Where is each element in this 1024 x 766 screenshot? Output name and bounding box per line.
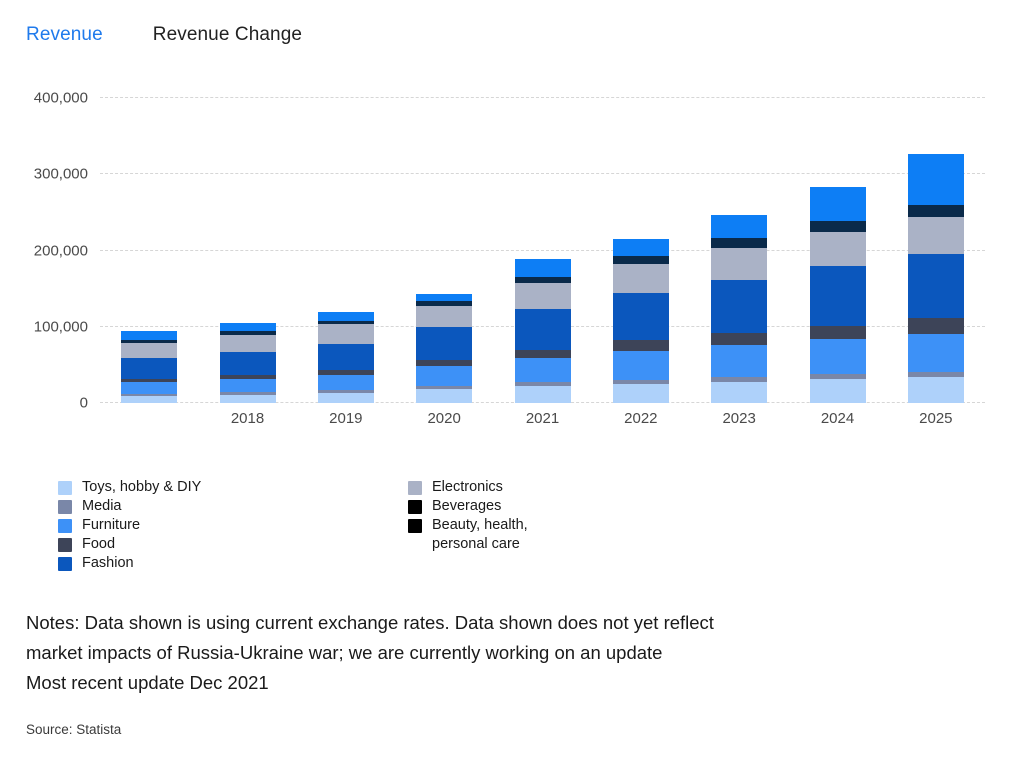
bar-segment[interactable] [220, 395, 276, 403]
tab-revenue-change[interactable]: Revenue Change [153, 24, 302, 46]
bar-2022[interactable] [613, 239, 669, 403]
bar-segment[interactable] [711, 215, 767, 239]
legend-swatch-icon [58, 519, 72, 533]
bar-segment[interactable] [416, 366, 472, 386]
bar-segment[interactable] [908, 217, 964, 254]
legend-item[interactable]: Food [58, 535, 408, 554]
y-axis-labels: 0100,000200,000300,000400,000 [0, 98, 88, 403]
legend-label: Fashion [82, 554, 134, 573]
bar-segment[interactable] [220, 335, 276, 352]
bar-2019[interactable] [318, 312, 374, 403]
y-axis-tick: 300,000 [34, 166, 88, 183]
bar-segment[interactable] [416, 389, 472, 403]
bar-segment[interactable] [121, 358, 177, 379]
y-axis-tick: 100,000 [34, 318, 88, 335]
bar-segment[interactable] [515, 259, 571, 277]
note-line-2: market impacts of Russia-Ukraine war; we… [26, 638, 906, 668]
plot-area [100, 98, 985, 403]
bar-segment[interactable] [908, 254, 964, 319]
y-axis-tick: 0 [80, 395, 88, 412]
bar-segment[interactable] [810, 379, 866, 403]
gridline [100, 97, 985, 98]
legend-column-1: Toys, hobby & DIYMediaFurnitureFoodFashi… [58, 478, 408, 573]
legend-item[interactable]: Beverages [408, 497, 758, 516]
legend-label: Electronics [432, 478, 503, 497]
bar-segment[interactable] [908, 377, 964, 403]
bar-segment[interactable] [908, 205, 964, 217]
x-axis-tick-2021: 2021 [498, 410, 588, 427]
bar-segment[interactable] [318, 324, 374, 343]
legend-item[interactable]: Media [58, 497, 408, 516]
y-axis-tick: 200,000 [34, 242, 88, 259]
legend-swatch-icon [408, 519, 422, 533]
bar-2024[interactable] [810, 187, 866, 403]
bar-segment[interactable] [613, 239, 669, 257]
bar-segment[interactable] [121, 343, 177, 358]
bar-segment[interactable] [810, 221, 866, 232]
x-axis-labels: 20182019202020212022202320242025 [100, 410, 985, 436]
legend-swatch-icon [408, 500, 422, 514]
legend-swatch-icon [58, 481, 72, 495]
legend-item[interactable]: Beauty, health, personal care [408, 516, 758, 554]
bar-2023[interactable] [711, 215, 767, 403]
bar-segment[interactable] [318, 375, 374, 390]
x-axis-tick-2020: 2020 [399, 410, 489, 427]
note-line-3: Most recent update Dec 2021 [26, 668, 906, 698]
bar-segment[interactable] [613, 264, 669, 293]
bar-segment[interactable] [318, 312, 374, 321]
legend-swatch-icon [58, 538, 72, 552]
bar-segment[interactable] [515, 386, 571, 403]
legend-column-2: ElectronicsBeveragesBeauty, health, pers… [408, 478, 758, 573]
bar-segment[interactable] [810, 187, 866, 221]
x-axis-tick-2019: 2019 [301, 410, 391, 427]
x-axis-tick-2025: 2025 [891, 410, 981, 427]
bar-segment[interactable] [810, 326, 866, 340]
bar-2020[interactable] [416, 294, 472, 403]
y-axis-tick: 400,000 [34, 90, 88, 107]
bar-segment[interactable] [711, 248, 767, 280]
bar-segment[interactable] [810, 266, 866, 325]
tab-revenue[interactable]: Revenue [26, 24, 103, 46]
bar-2025[interactable] [908, 154, 964, 403]
bar-segment[interactable] [220, 379, 276, 392]
note-line-1: Notes: Data shown is using current excha… [26, 608, 906, 638]
bar-segment[interactable] [121, 382, 177, 393]
bar-segment[interactable] [810, 232, 866, 266]
bar-segment[interactable] [121, 396, 177, 403]
bar-segment[interactable] [711, 238, 767, 247]
chart-legend: Toys, hobby & DIYMediaFurnitureFoodFashi… [58, 478, 758, 573]
bar-segment[interactable] [220, 352, 276, 376]
legend-item[interactable]: Electronics [408, 478, 758, 497]
bar-segment[interactable] [613, 384, 669, 403]
bar-segment[interactable] [515, 350, 571, 358]
bar-segment[interactable] [121, 331, 177, 339]
gridline [100, 173, 985, 174]
stacked-bar-chart: 0100,000200,000300,000400,000 2018201920… [0, 80, 1024, 440]
bar-segment[interactable] [416, 306, 472, 327]
bar-segment[interactable] [908, 318, 964, 333]
legend-swatch-icon [58, 500, 72, 514]
x-axis-tick-2024: 2024 [793, 410, 883, 427]
legend-swatch-icon [58, 557, 72, 571]
legend-label: Furniture [82, 516, 140, 535]
bar-segment[interactable] [515, 309, 571, 349]
bar-segment[interactable] [810, 339, 866, 374]
bar-segment[interactable] [416, 294, 472, 301]
legend-item[interactable]: Fashion [58, 554, 408, 573]
legend-label: Toys, hobby & DIY [82, 478, 201, 497]
legend-item[interactable]: Toys, hobby & DIY [58, 478, 408, 497]
bar-segment[interactable] [220, 323, 276, 331]
bar-segment[interactable] [318, 393, 374, 403]
notes-block: Notes: Data shown is using current excha… [26, 608, 906, 698]
bar-segment[interactable] [711, 280, 767, 333]
bar-2018[interactable] [220, 323, 276, 403]
bar-segment[interactable] [515, 283, 571, 309]
bar-segment[interactable] [515, 358, 571, 382]
bar-2017[interactable] [121, 331, 177, 403]
bar-segment[interactable] [908, 334, 964, 372]
legend-swatch-icon [408, 481, 422, 495]
bar-segment[interactable] [416, 327, 472, 360]
bar-segment[interactable] [711, 345, 767, 377]
legend-label: Beauty, health, personal care [432, 516, 528, 554]
x-axis-tick-2018: 2018 [203, 410, 293, 427]
tab-bar: Revenue Revenue Change [26, 24, 302, 46]
legend-label: Media [82, 497, 122, 516]
bar-segment[interactable] [613, 256, 669, 264]
x-axis-tick-2022: 2022 [596, 410, 686, 427]
legend-label: Beverages [432, 497, 501, 516]
bar-segment[interactable] [711, 333, 767, 345]
bar-segment[interactable] [613, 293, 669, 340]
legend-item[interactable]: Furniture [58, 516, 408, 535]
source-label: Source: Statista [26, 722, 121, 737]
bar-segment[interactable] [613, 340, 669, 351]
bar-2021[interactable] [515, 259, 571, 403]
x-axis-tick-2023: 2023 [694, 410, 784, 427]
legend-label: Food [82, 535, 115, 554]
bar-segment[interactable] [318, 344, 374, 371]
bar-segment[interactable] [711, 382, 767, 403]
bar-segment[interactable] [613, 351, 669, 380]
bar-segment[interactable] [908, 154, 964, 204]
